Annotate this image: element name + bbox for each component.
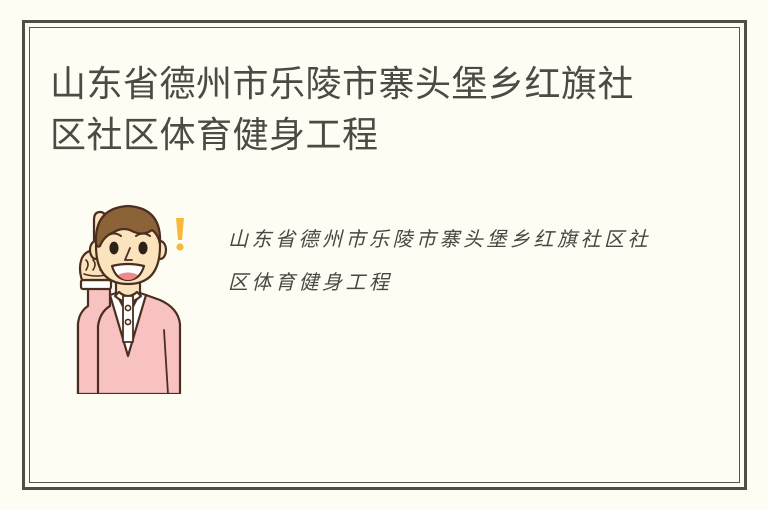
man-pointing-up-icon [48,196,208,394]
shirt-cuff [81,280,111,289]
eye-left [109,242,118,255]
man-pointing-up-illustration [48,196,208,394]
page-root: 山东省德州市乐陵市寨头堡乡红旗社区社区体育健身工程 [0,0,768,510]
shirt-button-1 [125,305,130,310]
shirt-button-2 [125,319,130,324]
exclamation-mark-icon [176,218,184,251]
page-title: 山东省德州市乐陵市寨头堡乡红旗社区社区体育健身工程 [50,58,650,160]
eye-right [138,242,147,255]
content-row: 山东省德州市乐陵市寨头堡乡红旗社区社区体育健身工程 [48,196,708,396]
body-text: 山东省德州市乐陵市寨头堡乡红旗社区社区体育健身工程 [228,218,658,304]
